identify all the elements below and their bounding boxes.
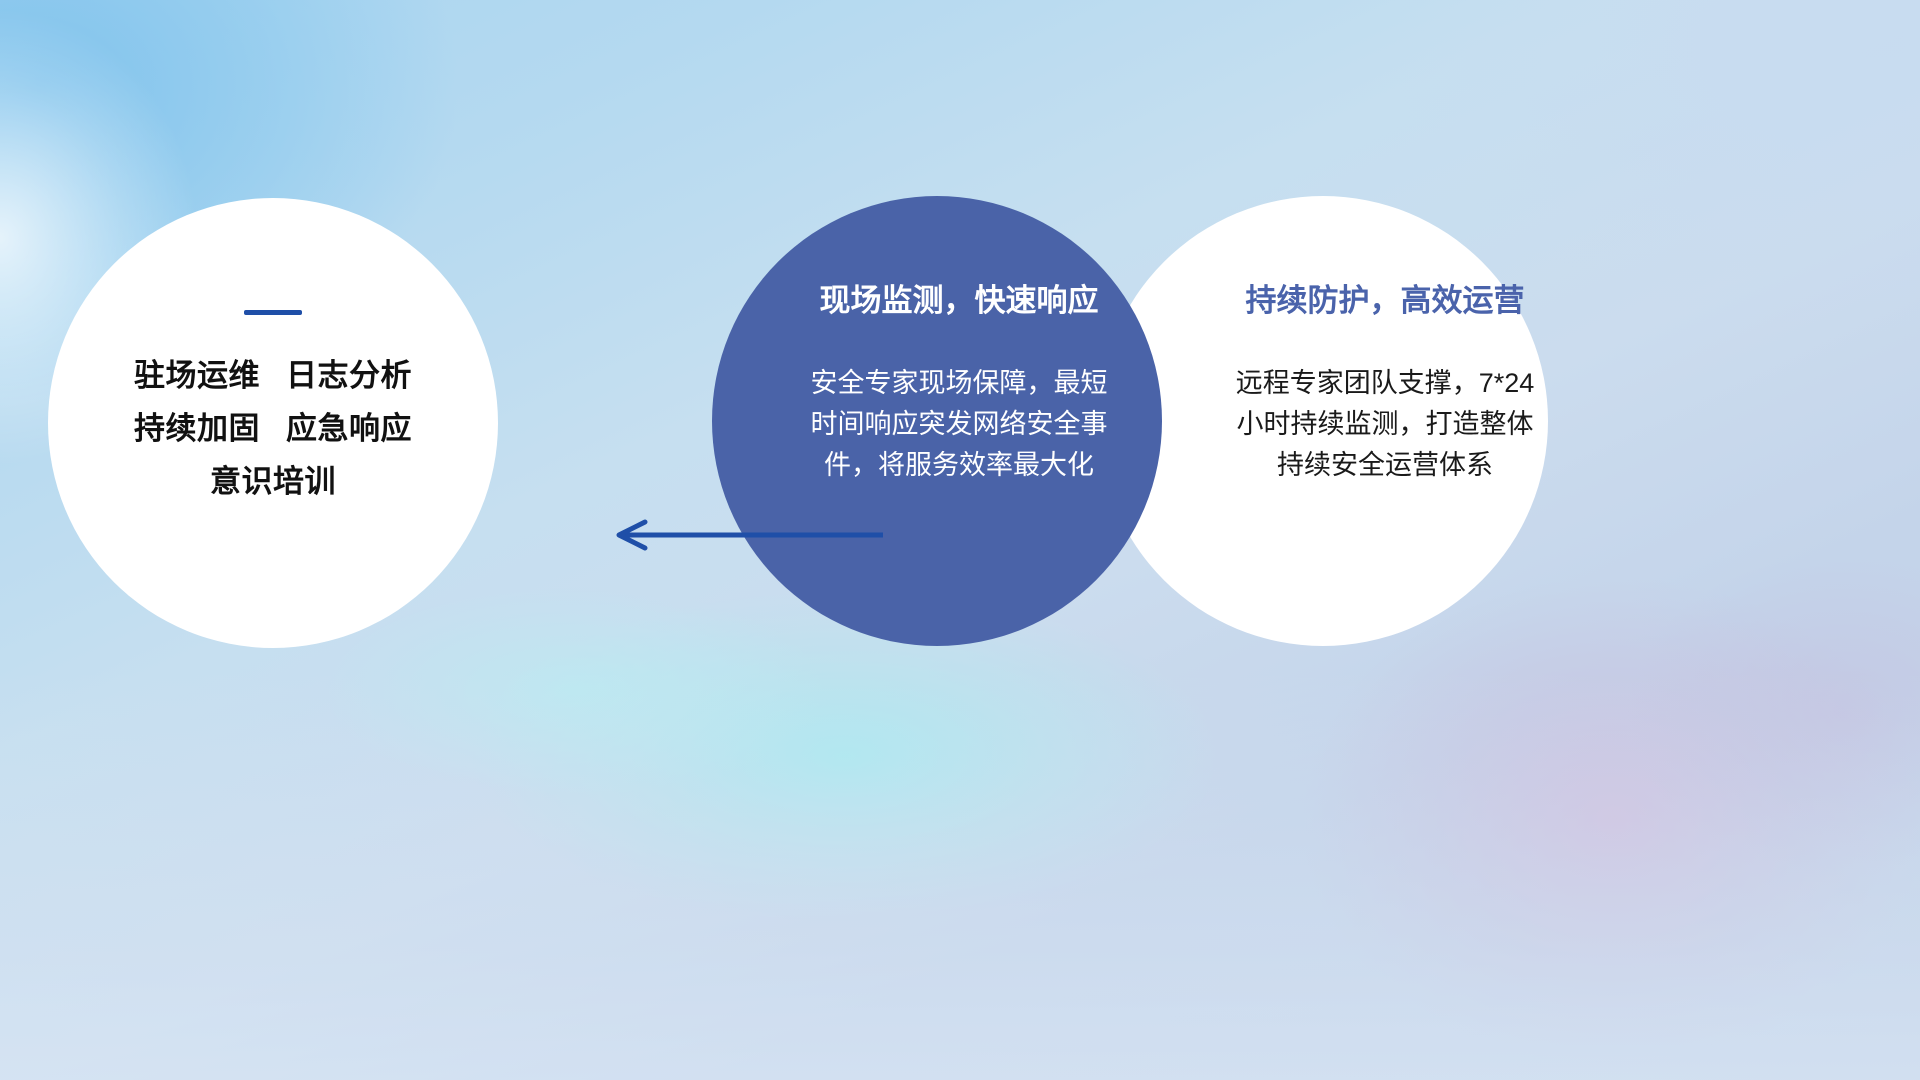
flow-arrow xyxy=(605,515,885,555)
left-service-circle[interactable]: 驻场运维日志分析 持续加固应急响应 意识培训 xyxy=(48,198,498,648)
list-item: 驻场运维日志分析 xyxy=(134,359,412,393)
keyword-yishipeixun: 意识培训 xyxy=(210,464,336,499)
blue-circle-content: 现场监测，快速响应 安全专家现场保障，最短时间响应突发网络安全事件，将服务效率最… xyxy=(809,282,1109,486)
keyword-chixujiagu: 持续加固 xyxy=(134,411,260,446)
right-circle-title: 持续防护，高效运营 xyxy=(1246,282,1525,319)
left-circle-keyword-list: 驻场运维日志分析 持续加固应急响应 意识培训 xyxy=(134,359,412,499)
right-circle-body: 远程专家团队支撑，7*24小时持续监测，打造整体持续安全运营体系 xyxy=(1235,363,1535,486)
arrow-left-icon xyxy=(605,515,885,555)
slide-canvas: 驻场运维日志分析 持续加固应急响应 意识培训 持续防护，高效运营 远程专家团队支… xyxy=(0,0,1920,1080)
right-circle-content: 持续防护，高效运营 远程专家团队支撑，7*24小时持续监测，打造整体持续安全运营… xyxy=(1235,282,1535,486)
divider-dash-icon xyxy=(244,310,302,315)
monitoring-circle[interactable]: 现场监测，快速响应 安全专家现场保障，最短时间响应突发网络安全事件，将服务效率最… xyxy=(712,196,1162,646)
keyword-zhuchangyunwei: 驻场运维 xyxy=(134,358,260,393)
list-item: 持续加固应急响应 xyxy=(134,412,412,446)
keyword-rizhifenxi: 日志分析 xyxy=(286,358,412,393)
list-item: 意识培训 xyxy=(210,465,336,499)
right-operations-circle[interactable]: 持续防护，高效运营 远程专家团队支撑，7*24小时持续监测，打造整体持续安全运营… xyxy=(1098,196,1548,646)
blue-circle-title: 现场监测，快速响应 xyxy=(820,282,1099,319)
blue-circle-body: 安全专家现场保障，最短时间响应突发网络安全事件，将服务效率最大化 xyxy=(809,363,1109,486)
keyword-yingjixiangying: 应急响应 xyxy=(286,411,412,446)
